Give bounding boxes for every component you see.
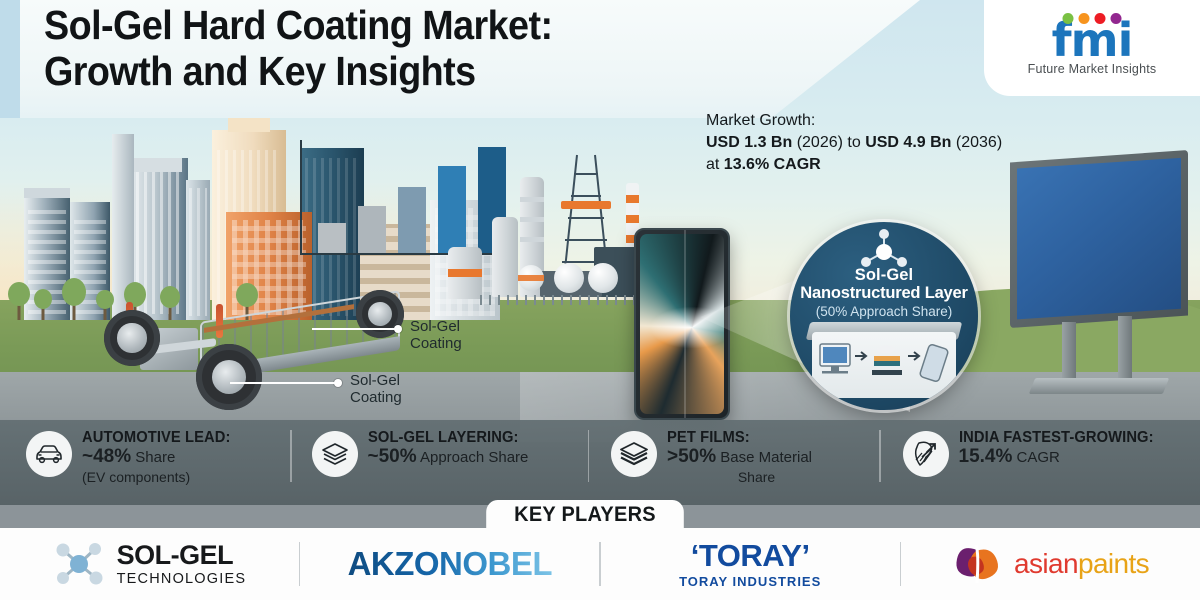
key-players-row: SOL-GEL TECHNOLOGIES AKZONOBEL ‘TORAY’ T… (0, 528, 1200, 600)
logo-dot-red (1095, 13, 1106, 24)
wheel-rear-left (196, 344, 262, 410)
stat-india-fastest-growing: INDIA FASTEST-GROWING: 15.4% CAGR (881, 420, 1175, 477)
chart-bar (358, 206, 386, 253)
monitor-screen (1017, 157, 1181, 321)
stat-unit: CAGR (1017, 449, 1060, 466)
callout-line-2: Nanostructured Layer (790, 284, 978, 303)
player-name: ‘TORAY’ TORAY INDUSTRIES (679, 540, 821, 588)
spherical-tank (588, 263, 618, 293)
display-monitor (1010, 150, 1188, 328)
stat-note: (EV components) (82, 468, 238, 486)
spherical-tank (554, 263, 584, 293)
logo-dot-orange (1079, 13, 1090, 24)
player-name-part-asian: asian (1014, 548, 1078, 579)
layers-icon (320, 441, 350, 467)
player-asian-paints[interactable]: asianpaints (901, 528, 1200, 600)
player-name: SOL-GEL TECHNOLOGIES (117, 542, 247, 587)
stat-automotive-lead: AUTOMOTIVE LEAD: ~48% Share (EV componen… (0, 420, 290, 486)
stat-icon-wrapper (903, 431, 949, 477)
stat-value-row: >50% Base Material (667, 447, 812, 468)
stat-value-row: ~48% Share (82, 447, 238, 468)
player-name: AKZONOBEL (348, 545, 553, 583)
market-growth-start-value: USD 1.3 Bn (706, 134, 792, 151)
stat-sol-gel-layering: SOL-GEL LAYERING: ~50% Approach Share (292, 420, 588, 477)
stat-value-row: ~50% Approach Share (368, 447, 529, 468)
chart-bar (398, 187, 426, 253)
player-name-part-paints: paints (1078, 548, 1149, 579)
india-growth-icon (911, 440, 941, 468)
page-title-line-2: Growth and Key Insights (44, 48, 688, 94)
logo-dot-green (1063, 13, 1074, 24)
stat-text: INDIA FASTEST-GROWING: 15.4% CAGR (959, 428, 1164, 468)
player-name-line-2: TORAY INDUSTRIES (679, 575, 821, 588)
player-sol-gel-technologies[interactable]: SOL-GEL TECHNOLOGIES (0, 528, 299, 600)
market-growth-cagr-row: at 13.6% CAGR (706, 154, 1066, 176)
callout-line-1: Sol-Gel (790, 266, 978, 285)
car-icon (34, 443, 64, 465)
monitor-stand-right (1118, 316, 1132, 380)
stat-unit: Share (135, 449, 175, 466)
sol-gel-callout-circle: Sol-Gel Nanostructured Layer (50% Approa… (790, 222, 978, 410)
key-stats-band: AUTOMOTIVE LEAD: ~48% Share (EV componen… (0, 420, 1200, 505)
tree (62, 272, 86, 320)
player-toray[interactable]: ‘TORAY’ TORAY INDUSTRIES (601, 528, 900, 600)
coating-process-diagram (812, 332, 956, 398)
market-growth-values: USD 1.3 Bn (2026) to USD 4.9 Bn (2036) (706, 132, 1066, 154)
market-growth-callout: Market Growth: USD 1.3 Bn (2026) to USD … (706, 110, 1066, 176)
market-growth-cagr: 13.6% CAGR (724, 156, 821, 173)
stat-title: INDIA FASTEST-GROWING: (959, 428, 1154, 447)
annotation-line-2: Coating (350, 389, 402, 406)
player-akzonobel[interactable]: AKZONOBEL (300, 528, 599, 600)
key-players-tab: KEY PLAYERS (486, 500, 684, 530)
chart-y-axis (300, 140, 302, 253)
annotation-line (312, 328, 396, 330)
stat-text: AUTOMOTIVE LEAD: ~48% Share (EV componen… (82, 428, 238, 486)
stat-text: SOL-GEL LAYERING: ~50% Approach Share (368, 428, 529, 468)
annotation-line-2: Coating (410, 335, 462, 352)
stat-unit: Base Material (720, 449, 812, 466)
phone-fold-crease (684, 230, 686, 418)
player-name-line-2: TECHNOLOGIES (117, 572, 247, 587)
player-name-line-1: ‘TORAY’ (679, 540, 821, 571)
asian-paints-mark-icon (952, 543, 1004, 585)
stat-value: ~48% (82, 446, 131, 467)
logo-dot-purple (1111, 13, 1122, 24)
market-growth-label: Market Growth: (706, 110, 1066, 132)
stat-pet-films: PET FILMS: >50% Base Material Share (589, 420, 879, 486)
annotation-line-1: Sol-Gel (350, 372, 402, 389)
annotation-sol-gel-coating-2: Sol-Gel Coating (350, 372, 402, 406)
annotation-line-1: Sol-Gel (410, 318, 462, 335)
film-stack-icon (619, 441, 649, 467)
chart-bar (438, 166, 466, 253)
market-growth-start-year: (2026) (797, 134, 843, 151)
monitor-stand-left (1062, 322, 1076, 382)
infographic-canvas: Sol-Gel Nanostructured Layer (50% Approa… (0, 0, 1200, 600)
player-name: asianpaints (1014, 548, 1149, 580)
tree (34, 284, 52, 320)
stat-icon-wrapper (312, 431, 358, 477)
spherical-tank (518, 265, 544, 291)
monitor-base (1029, 378, 1169, 394)
stat-title: SOL-GEL LAYERING: (368, 428, 521, 447)
market-growth-at: at (706, 156, 719, 173)
phone-wallpaper (640, 234, 724, 414)
wheel-front (104, 310, 160, 366)
stat-text: PET FILMS: >50% Base Material Share (667, 428, 812, 486)
stat-icon-wrapper (611, 431, 657, 477)
molecule-mark-icon (53, 540, 107, 588)
pipe-rack (480, 295, 660, 305)
page-title: Sol-Gel Hard Coating Market: Growth and … (44, 2, 688, 94)
stat-note: Share (667, 468, 812, 486)
stat-value: ~50% (368, 446, 417, 467)
annotation-sol-gel-coating-1: Sol-Gel Coating (410, 318, 462, 352)
chart-bar (318, 223, 346, 253)
fmi-logo-mark: fmi (1052, 20, 1133, 60)
storage-tank (448, 247, 482, 299)
market-growth-connector: to (847, 134, 860, 151)
stat-value: 15.4% (959, 446, 1013, 467)
fmi-logo[interactable]: fmi Future Market Insights (984, 0, 1200, 96)
stat-title: AUTOMOTIVE LEAD: (82, 428, 230, 447)
stat-value: >50% (667, 446, 716, 467)
player-name-line-1: SOL-GEL (117, 542, 247, 569)
market-growth-end-year: (2036) (956, 134, 1002, 151)
callout-line-3: (50% Approach Share) (790, 304, 978, 319)
page-title-line-1: Sol-Gel Hard Coating Market: (44, 2, 688, 48)
market-growth-end-value: USD 4.9 Bn (865, 134, 951, 151)
tree (8, 276, 30, 320)
stat-title: PET FILMS: (667, 428, 805, 447)
stat-unit: Approach Share (420, 449, 528, 466)
stat-value-row: 15.4% CAGR (959, 447, 1164, 468)
fmi-logo-dots (1063, 13, 1122, 24)
annotation-line (230, 382, 336, 384)
suspension (216, 304, 223, 338)
stat-icon-wrapper (26, 431, 72, 477)
storage-tank (492, 217, 518, 297)
